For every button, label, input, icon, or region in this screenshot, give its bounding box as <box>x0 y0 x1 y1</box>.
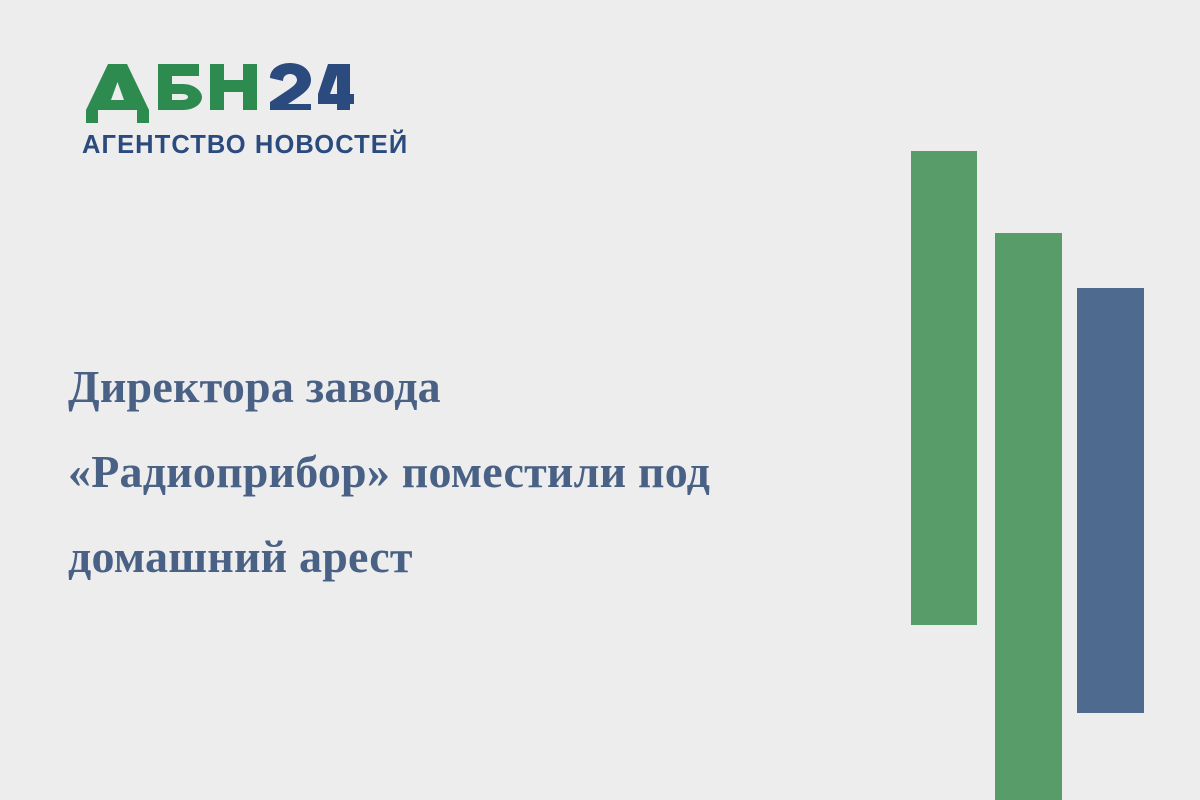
decorative-bar-short-blue <box>1077 288 1144 713</box>
decorative-bar-mid-green <box>995 233 1062 800</box>
abn24-logo-icon <box>82 62 354 124</box>
headline-line-1: Директора завода <box>68 344 868 429</box>
headline-line-3: домашний арест <box>68 514 868 599</box>
news-card: АГЕНТСТВО НОВОСТЕЙ Директора завода «Рад… <box>0 0 1200 800</box>
headline-line-2: «Радиоприбор» поместили под <box>68 429 868 514</box>
headline: Директора завода «Радиоприбор» поместили… <box>68 344 868 599</box>
brand-logo[interactable]: АГЕНТСТВО НОВОСТЕЙ <box>82 62 372 159</box>
brand-tagline: АГЕНТСТВО НОВОСТЕЙ <box>82 133 372 159</box>
decorative-bar-tall-green <box>911 151 977 625</box>
